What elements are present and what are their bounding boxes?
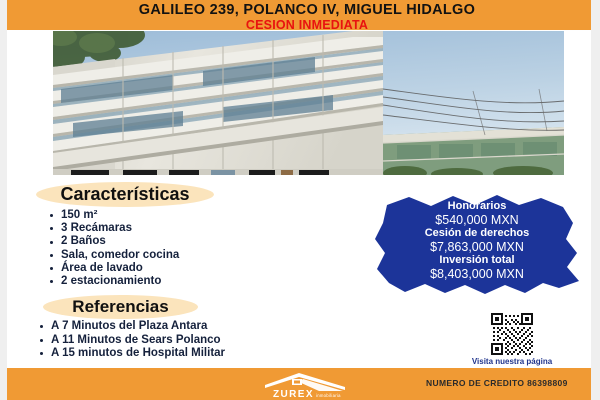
badge-label-rights: Cesión de derechos bbox=[373, 227, 581, 240]
list-item: 3 Recámaras bbox=[61, 222, 179, 235]
list-item: A 11 Minutos de Sears Polanco bbox=[51, 334, 225, 348]
list-item: 2 estacionamiento bbox=[61, 275, 179, 288]
header-subtitle: CESION INMEDIATA bbox=[7, 18, 600, 32]
references-heading: Referencias bbox=[43, 295, 198, 319]
badge-label-fee: Honorarios bbox=[373, 200, 581, 213]
flyer-canvas: GALILEO 239, POLANCO IV, MIGUEL HIDALGO … bbox=[0, 0, 600, 400]
price-badge: Honorarios $540,000 MXN Cesión de derech… bbox=[373, 193, 581, 297]
list-item: A 15 minutos de Hospital Militar bbox=[51, 347, 225, 361]
badge-amount-rights: $7,863,000 MXN bbox=[373, 240, 581, 254]
logo-suffix-text: inmobiliaria bbox=[316, 393, 341, 398]
badge-amount-total: $8,403,000 MXN bbox=[373, 267, 581, 281]
list-item: 150 m² bbox=[61, 209, 179, 222]
badge-label-total: Inversión total bbox=[373, 254, 581, 267]
references-list: A 7 Minutos del Plaza Antara A 11 Minuto… bbox=[33, 320, 225, 361]
logo-brand-text: ZUREX bbox=[273, 389, 314, 399]
features-list: 150 m² 3 Recámaras 2 Baños Sala, comedor… bbox=[43, 209, 179, 288]
features-heading: Características bbox=[36, 182, 214, 207]
list-item: Sala, comedor cocina bbox=[61, 249, 179, 262]
qr-code-icon[interactable] bbox=[489, 311, 535, 357]
qr-caption: Visita nuestra página bbox=[450, 357, 574, 366]
list-item: 2 Baños bbox=[61, 235, 179, 248]
credit-number: NUMERO DE CREDITO 86398809 bbox=[426, 378, 568, 388]
page-title: GALILEO 239, POLANCO IV, MIGUEL HIDALGO bbox=[7, 0, 600, 18]
zurex-logo[interactable]: ZUREX inmobiliaria bbox=[259, 370, 351, 399]
badge-amount-fee: $540,000 MXN bbox=[373, 213, 581, 227]
footer-banner: ZUREX inmobiliaria NUMERO DE CREDITO 863… bbox=[7, 368, 600, 400]
list-item: A 7 Minutos del Plaza Antara bbox=[51, 320, 225, 334]
price-badge-text: Honorarios $540,000 MXN Cesión de derech… bbox=[373, 193, 581, 297]
header-banner: GALILEO 239, POLANCO IV, MIGUEL HIDALGO … bbox=[7, 0, 600, 30]
list-item: Área de lavado bbox=[61, 262, 179, 275]
building-exterior-photo bbox=[53, 31, 564, 175]
